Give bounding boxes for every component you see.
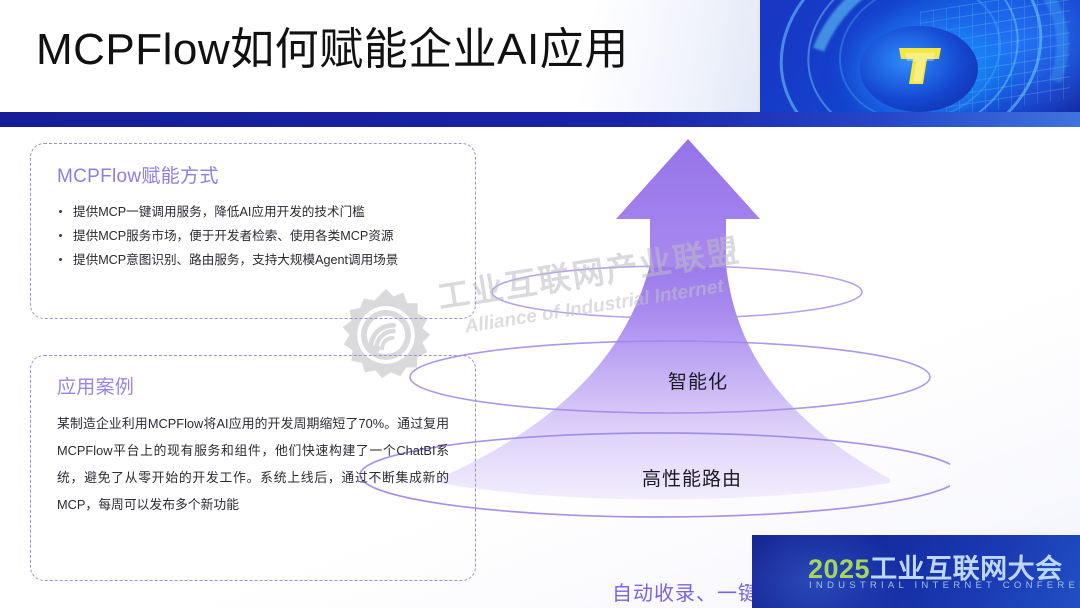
card-case-title: 应用案例 bbox=[57, 372, 134, 399]
card-mcpflow-methods: MCPFlow赋能方式 提供MCP一键调用服务，降低AI应用开发的技术门槛 提供… bbox=[30, 143, 476, 319]
conference-subtitle-en: INDUSTRIAL INTERNET CONFERENCE bbox=[809, 580, 1080, 591]
funnel-label-intelligence: 智能化 bbox=[668, 367, 728, 394]
funnel-arrow-head bbox=[616, 139, 760, 267]
card-methods-title: MCPFlow赋能方式 bbox=[57, 161, 219, 188]
list-item: 提供MCP意图识别、路由服务，支持大规模Agent调用场景 bbox=[57, 248, 461, 272]
header-accent-bar bbox=[0, 112, 1080, 127]
funnel-label-routing: 高性能路由 bbox=[642, 464, 742, 491]
list-item: 提供MCP服务市场，便于开发者检索、使用各类MCP资源 bbox=[57, 224, 461, 248]
page-title: MCPFlow如何赋能企业AI应用 bbox=[36, 20, 629, 80]
slide-header: MCPFlow如何赋能企业AI应用 bbox=[0, 0, 1080, 112]
card-application-case: 应用案例 某制造企业利用MCPFlow将AI应用的开发周期缩短了70%。通过复用… bbox=[30, 355, 476, 581]
list-item: 提供MCP一键调用服务，降低AI应用开发的技术门槛 bbox=[57, 200, 461, 224]
card-case-body: 某制造企业利用MCPFlow将AI应用的开发周期缩短了70%。通过复用MCPFl… bbox=[57, 410, 449, 518]
card-methods-bullet-list: 提供MCP一键调用服务，降低AI应用开发的技术门槛 提供MCP服务市场，便于开发… bbox=[57, 200, 461, 272]
t-logo-icon bbox=[895, 42, 947, 90]
slide-root: MCPFlow如何赋能企业AI应用 bbox=[0, 0, 1080, 608]
conference-logo: 2025工业互联网大会 INDUSTRIAL INTERNET CONFEREN… bbox=[752, 535, 1080, 608]
tech-circuit-sphere-graphic bbox=[760, 0, 1080, 112]
